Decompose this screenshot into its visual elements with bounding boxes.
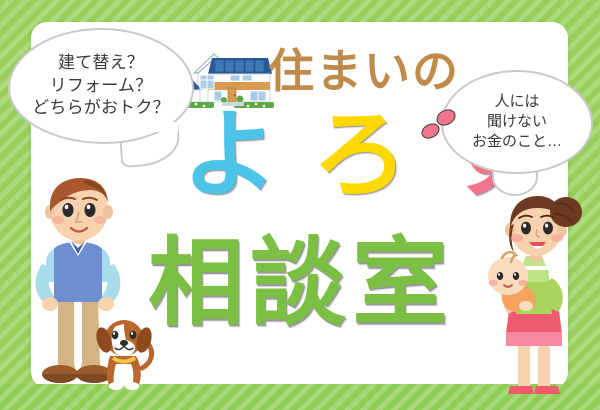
headline-kana-yo: よ [182,110,278,201]
bubble-left-line-3: どちらがおトク？ [32,97,170,119]
bubble-left-line-2: リフォーム？ [50,75,153,97]
headline-kanji-sou: 相 [148,236,244,332]
headline-prefix: 住まいの [268,48,460,94]
speech-bubble-right-tail-mask [490,154,536,164]
headline-kanji-shitsu: 室 [352,236,448,332]
bubble-right-line-2: 聞けない [487,112,547,132]
headline-kanji-row: 相 談 室 [148,236,448,332]
headline-kana-ro: ろ [312,110,408,201]
woman-with-baby-illustration [482,196,586,407]
bubble-right-line-3: お金のこと… [472,132,562,152]
bubble-right-line-1: 人には [494,92,539,112]
poster-canvas: 建て替え？ リフォーム？ どちらがおトク？ 人には 聞けない お金のこと… 住ま… [0,0,600,410]
headline-kanji-dan: 談 [250,236,346,332]
speech-bubble-left-tail-mask [118,122,178,132]
bubble-left-line-1: 建て替え？ [58,52,144,74]
